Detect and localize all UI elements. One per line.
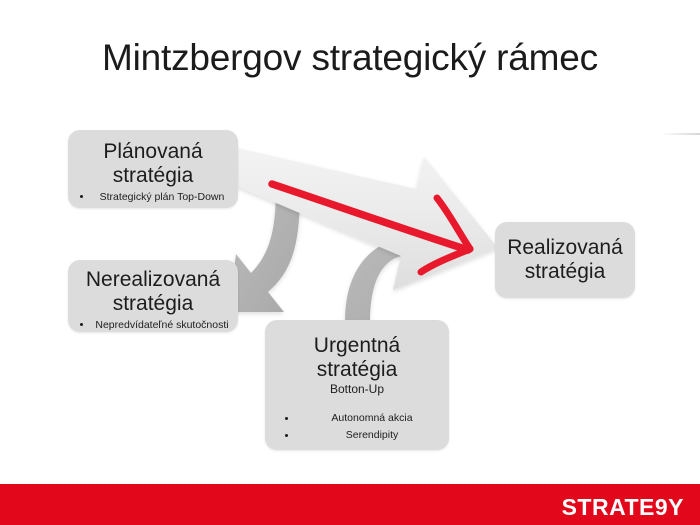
- box-planned-heading-line2: stratégia: [113, 164, 194, 187]
- list-item: Serendipity: [275, 427, 443, 443]
- slide-canvas: Mintzbergov strategický rámec: [0, 0, 700, 525]
- box-realized-heading-line2: stratégia: [525, 260, 606, 283]
- bullet-dot-icon: [80, 195, 83, 198]
- box-realized-heading: Realizovaná stratégia: [507, 236, 623, 283]
- box-unrealized-heading: Nerealizovaná stratégia: [72, 268, 234, 315]
- list-item: Autonomná akcia: [275, 410, 443, 426]
- list-item-label: Autonomná akcia: [331, 412, 412, 424]
- box-realized-strategy[interactable]: Realizovaná stratégia: [495, 222, 635, 298]
- list-item: Strategický plán Top-Down: [76, 190, 234, 204]
- list-item-label: Nepredvídateľné skutočnosti: [95, 319, 228, 331]
- box-planned-heading-line1: Plánovaná: [103, 140, 202, 163]
- box-urgent-subheading: Botton-Up: [271, 382, 443, 396]
- box-unrealized-heading-line2: stratégia: [113, 292, 194, 315]
- box-realized-heading-line1: Realizovaná: [507, 236, 623, 259]
- box-planned-strategy[interactable]: Plánovaná stratégia Strategický plán Top…: [68, 130, 238, 208]
- box-unrealized-strategy[interactable]: Nerealizovaná stratégia Nepredvídateľné …: [68, 260, 238, 332]
- box-unrealized-bullets: Nepredvídateľné skutočnosti: [72, 318, 234, 332]
- box-planned-bullets: Strategický plán Top-Down: [72, 190, 234, 204]
- bullet-dot-icon: [285, 417, 288, 420]
- bullet-dot-icon: [285, 434, 288, 437]
- box-urgent-heading-line1: Urgentná: [314, 334, 400, 357]
- list-item-label: Serendipity: [346, 429, 399, 441]
- box-planned-heading: Plánovaná stratégia: [72, 140, 234, 187]
- brand-logo: STRATE9Y: [562, 494, 684, 521]
- box-unrealized-heading-line1: Nerealizovaná: [86, 268, 220, 291]
- bullet-dot-icon: [80, 323, 83, 326]
- box-urgent-heading: Urgentná stratégia: [271, 334, 443, 381]
- box-urgent-heading-line2: stratégia: [317, 358, 398, 381]
- box-urgent-strategy[interactable]: Urgentná stratégia Botton-Up Autonomná a…: [265, 320, 449, 450]
- list-item-label: Strategický plán Top-Down: [100, 191, 225, 203]
- box-urgent-bullets: Autonomná akcia Serendipity: [271, 410, 443, 443]
- list-item: Nepredvídateľné skutočnosti: [76, 318, 234, 332]
